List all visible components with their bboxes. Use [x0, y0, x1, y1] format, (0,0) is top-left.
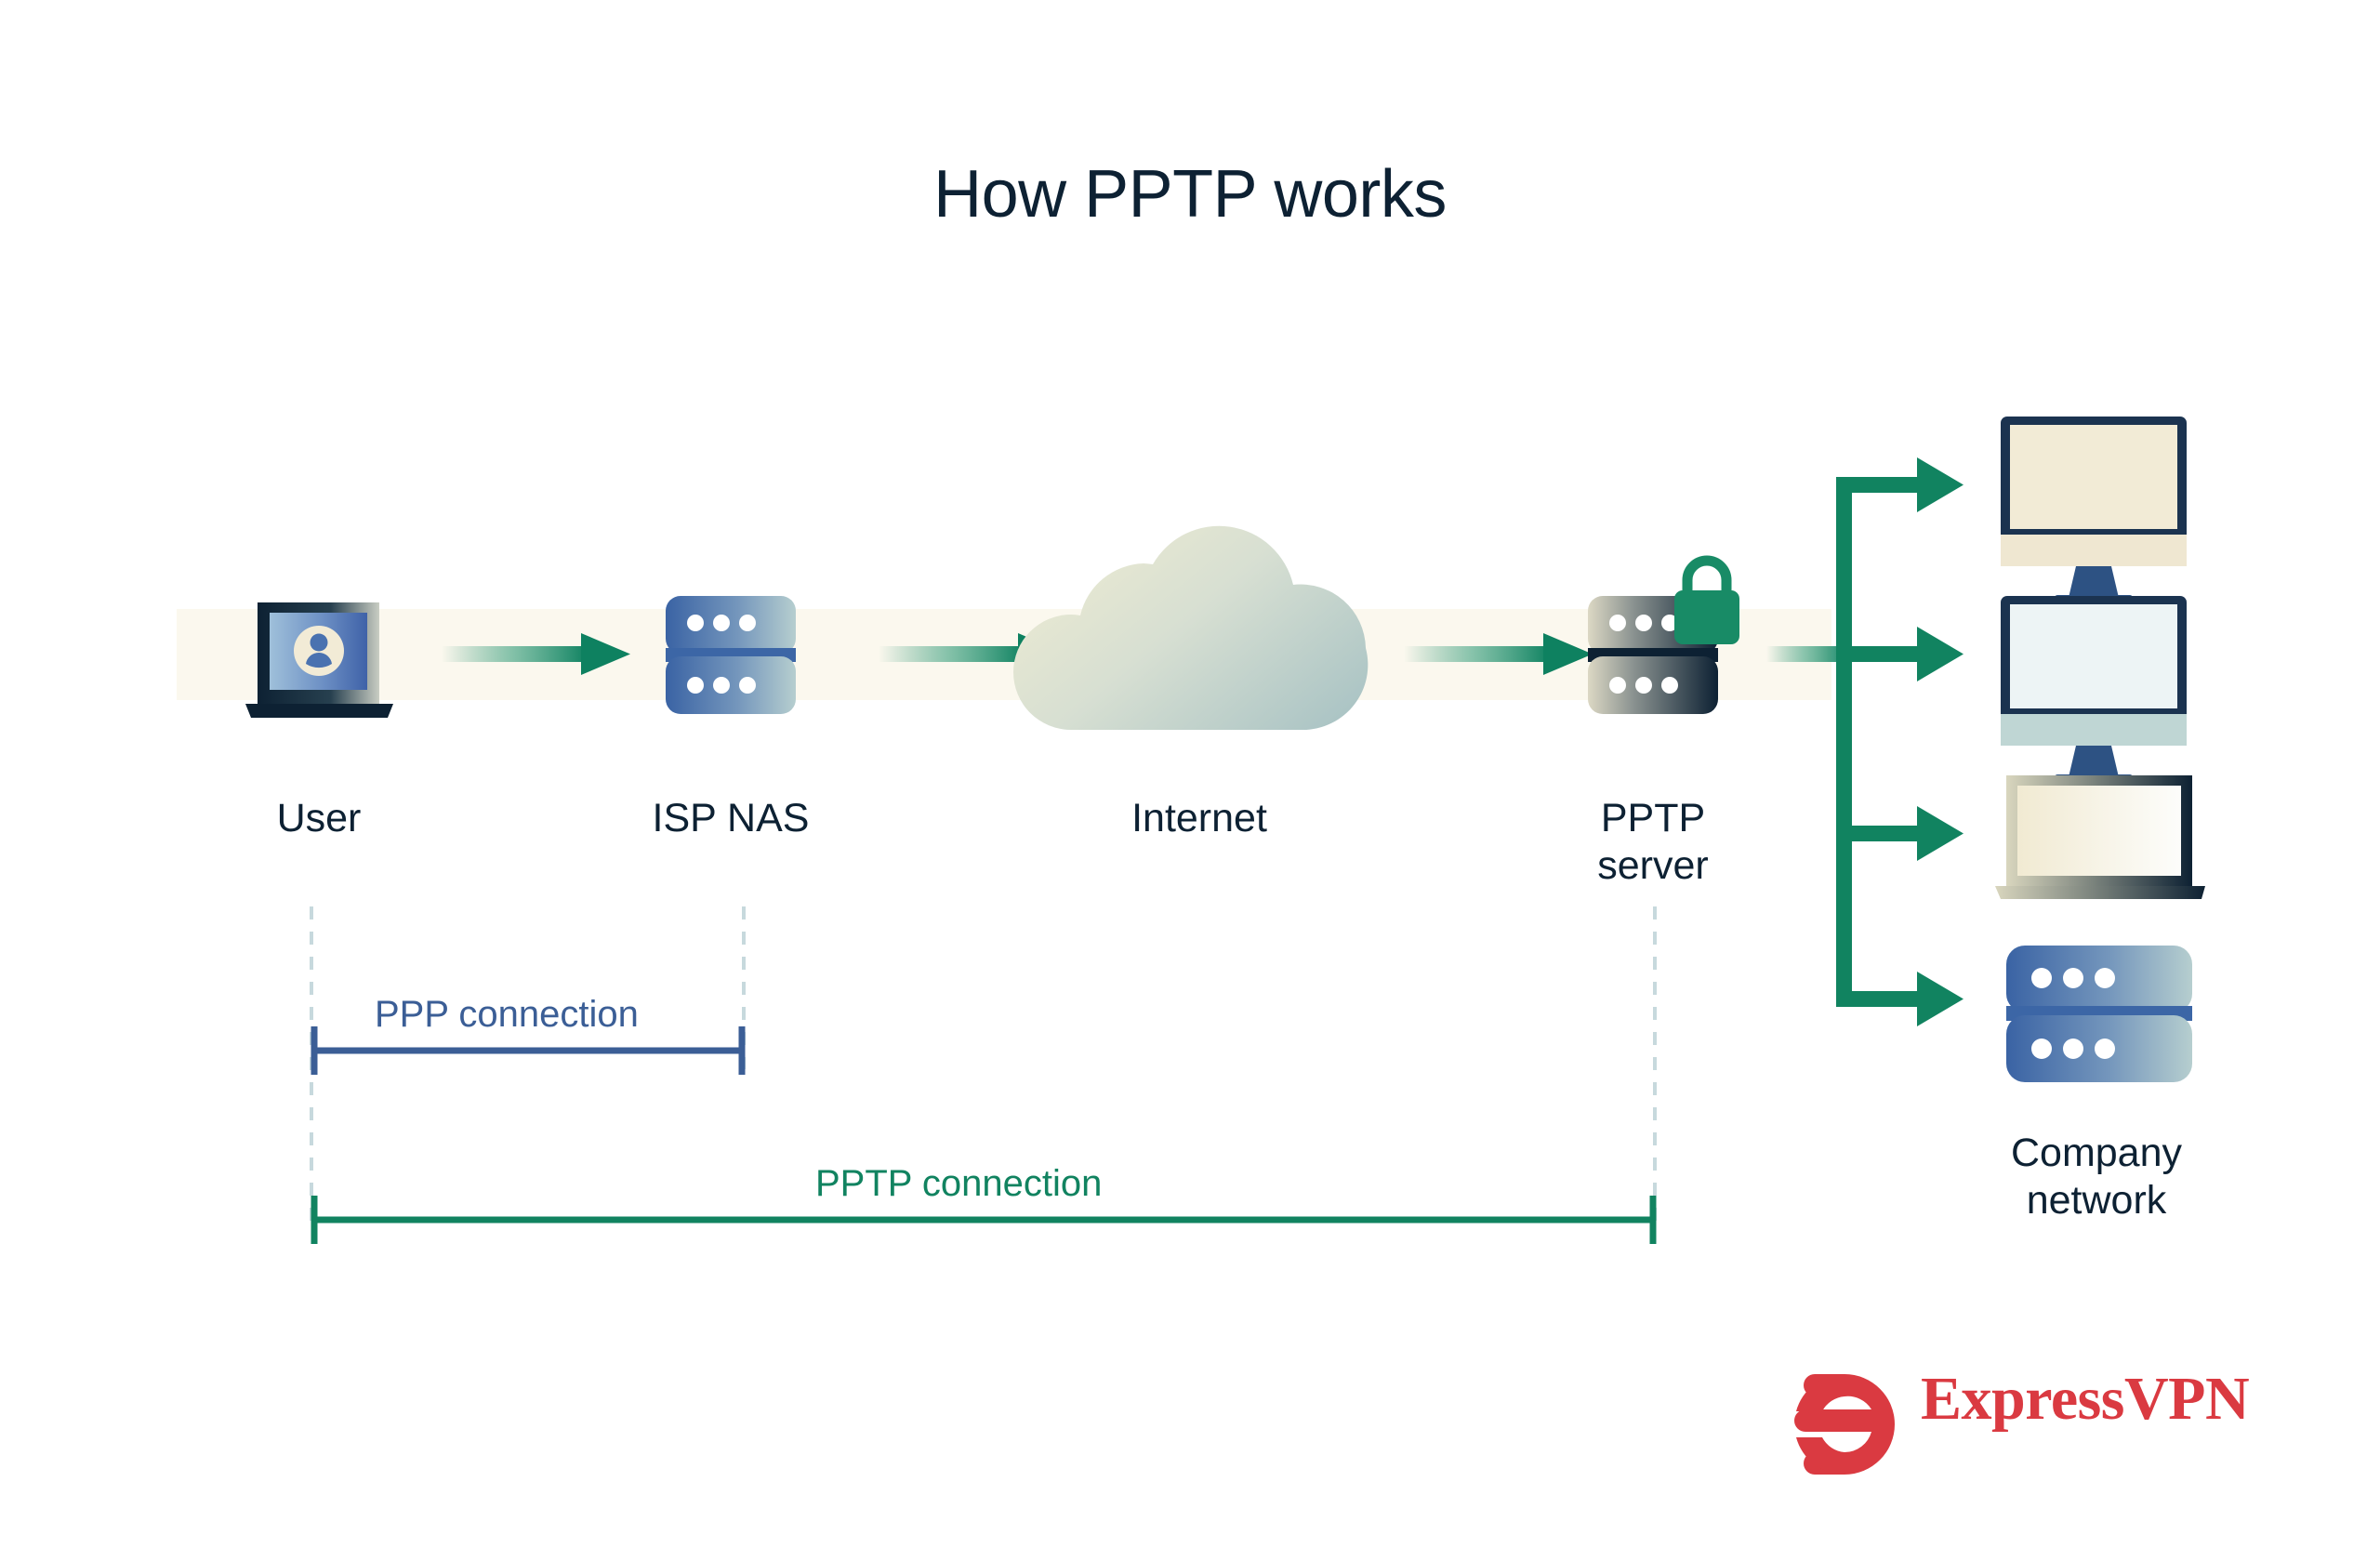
- node-label-isp-nas: ISP NAS: [573, 795, 889, 842]
- node-label-internet: Internet: [1041, 795, 1357, 842]
- device-desktop-blue: [2001, 596, 2187, 783]
- expressvpn-wordmark: ExpressVPN: [1921, 1369, 2249, 1430]
- expressvpn-logo: ExpressVPN: [1794, 1369, 2249, 1430]
- bracket-label-ppp: PPP connection: [375, 994, 639, 1036]
- company-network-label: Company network: [1938, 1130, 2254, 1224]
- user-node-icon: [245, 602, 393, 718]
- diagram-canvas: How PPTP works: [0, 0, 2380, 1561]
- pptp-server-node-icon: [1588, 561, 1739, 714]
- internet-cloud-icon: [1013, 526, 1368, 730]
- device-laptop: [1995, 775, 2205, 899]
- device-server: [2006, 946, 2192, 1082]
- lock-icon: [1674, 561, 1739, 644]
- isp-nas-node-icon: [666, 596, 796, 714]
- arrow-internet-to-server: [1404, 633, 1593, 675]
- company-network-branch-arrows: [1766, 457, 1963, 1026]
- bracket-label-pptp: PPTP connection: [815, 1163, 1102, 1205]
- node-label-user: User: [161, 795, 477, 842]
- arrow-user-to-isp: [442, 633, 630, 675]
- device-desktop-cream: [2001, 417, 2187, 603]
- diagram-vector-layer: [0, 0, 2380, 1561]
- node-label-pptp-server: PPTP server: [1495, 795, 1811, 889]
